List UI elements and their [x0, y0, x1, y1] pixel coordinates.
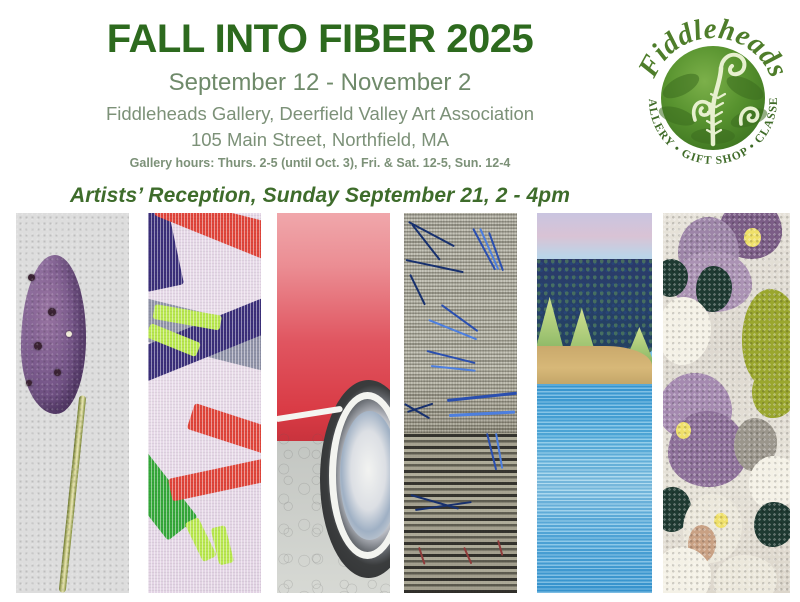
- pansy-petal: [663, 373, 732, 441]
- band-red: [168, 457, 261, 502]
- artwork-panel-strip: [0, 213, 800, 593]
- dark-leaf: [663, 487, 691, 533]
- fiddleheads-logo: Fiddleheads GALLERY • GIFT SHOP • CLASSE…: [629, 8, 794, 173]
- hubcap-shape: [340, 411, 390, 540]
- band-red: [154, 213, 261, 266]
- artwork-panel-6[interactable]: [663, 213, 790, 593]
- pod-hole: [54, 369, 61, 376]
- poster-canvas: FALL INTO FIBER 2025 September 12 - Nove…: [0, 0, 800, 602]
- artwork-panel-5[interactable]: [537, 213, 652, 593]
- pod-hole: [28, 274, 35, 281]
- band-red: [187, 403, 261, 460]
- band-lime: [148, 323, 202, 357]
- artwork-panel-1[interactable]: [16, 213, 129, 593]
- tan-petal: [688, 525, 716, 563]
- venue-address: 105 Main Street, Northfield, MA: [0, 129, 640, 150]
- white-flower: [663, 547, 711, 593]
- pansy-petal: [678, 217, 739, 282]
- band-red: [194, 213, 261, 252]
- pansy-petal: [668, 411, 747, 487]
- artwork-panel-3[interactable]: [277, 213, 390, 593]
- band-indigo: [148, 286, 261, 381]
- dark-leaf: [663, 259, 688, 297]
- pansy-petal: [673, 251, 752, 312]
- flower-center: [676, 422, 691, 439]
- artwork-image-3: [277, 213, 390, 593]
- reception-details: Artists’ Reception, Sunday September 21,…: [0, 184, 640, 208]
- pod-seed: [66, 331, 72, 337]
- band-gray: [148, 297, 261, 373]
- olive-leaf: [742, 289, 790, 388]
- pod-hole: [48, 308, 56, 316]
- pod-hole: [26, 380, 32, 386]
- artwork-image-5: [537, 213, 652, 593]
- band-indigo: [148, 213, 184, 292]
- band-lime: [184, 517, 216, 562]
- artwork-image-2: [148, 213, 261, 593]
- band-green: [148, 433, 198, 541]
- dark-leaf: [696, 266, 732, 312]
- artwork-panel-2[interactable]: [148, 213, 261, 593]
- artwork-image-1: [16, 213, 129, 593]
- flower-center: [714, 513, 728, 528]
- olive-leaf: [752, 365, 790, 418]
- artwork-image-6: [663, 213, 790, 593]
- flower-center: [744, 228, 761, 247]
- gallery-hours: Gallery hours: Thurs. 2-5 (until Oct. 3)…: [0, 156, 640, 170]
- venue-name: Fiddleheads Gallery, Deerfield Valley Ar…: [0, 103, 640, 124]
- pod-hole: [34, 342, 42, 350]
- white-flower: [663, 297, 711, 365]
- artwork-panel-4[interactable]: [404, 213, 517, 593]
- fiddleheads-logo-icon: Fiddleheads GALLERY • GIFT SHOP • CLASSE…: [629, 8, 794, 173]
- pod-shape: [21, 255, 87, 415]
- dark-leaf: [754, 502, 790, 548]
- white-flower: [749, 456, 790, 509]
- page-title: FALL INTO FIBER 2025: [0, 18, 640, 60]
- band-lime: [210, 525, 234, 566]
- white-flower: [714, 555, 778, 593]
- band-lime: [152, 304, 221, 331]
- poster-header: FALL INTO FIBER 2025 September 12 - Nove…: [0, 0, 640, 208]
- stem-shape: [59, 396, 87, 593]
- exhibit-dates: September 12 - November 2: [0, 70, 640, 96]
- water-area: [537, 384, 652, 593]
- gray-leaf: [734, 418, 777, 471]
- artwork-image-4: [404, 213, 517, 593]
- pansy-petal: [719, 213, 783, 259]
- white-flower: [683, 494, 741, 562]
